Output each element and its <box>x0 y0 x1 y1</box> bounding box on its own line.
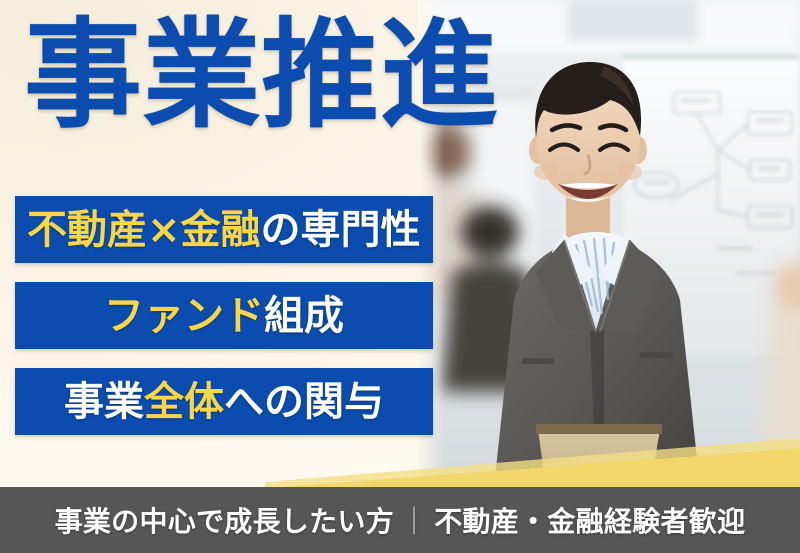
band-segment-highlight: 不動産×金融 <box>27 207 261 253</box>
footer-tagline: 事業の中心で成長したい方｜不動産・金融経験者歓迎 <box>55 500 746 540</box>
feature-band-fund-text: ファンド組成 <box>104 296 344 336</box>
band-segment-highlight: ファンド <box>104 293 264 339</box>
feature-band-list: 不動産×金融の専門性 ファンド組成 事業全体への関与 <box>15 196 433 435</box>
band-segment-plain-2: への関与 <box>224 379 384 425</box>
footer-left-text: 事業の中心で成長したい方 <box>55 505 394 538</box>
band-segment-plain: 組成 <box>264 293 344 339</box>
feature-band-specialty-text: 不動産×金融の専門性 <box>15 210 421 250</box>
band-segment-plain: 事業 <box>64 379 144 425</box>
feature-band-fund: ファンド組成 <box>15 282 433 349</box>
recruitment-banner: 事業推進 不動産×金融の専門性 ファンド組成 事業全体への関与 事業の中心で成長… <box>0 0 800 553</box>
feature-band-involvement: 事業全体への関与 <box>15 368 433 435</box>
footer-right-text: 不動産・金融経験者歓迎 <box>434 505 745 538</box>
feature-band-involvement-text: 事業全体への関与 <box>64 382 384 422</box>
footer-separator: ｜ <box>394 505 434 538</box>
page-title: 事業推進 <box>24 12 498 139</box>
band-segment-plain: の専門性 <box>261 207 421 253</box>
feature-band-specialty: 不動産×金融の専門性 <box>15 196 433 263</box>
footer-bar: 事業の中心で成長したい方｜不動産・金融経験者歓迎 <box>0 487 800 553</box>
band-segment-highlight: 全体 <box>144 379 224 425</box>
